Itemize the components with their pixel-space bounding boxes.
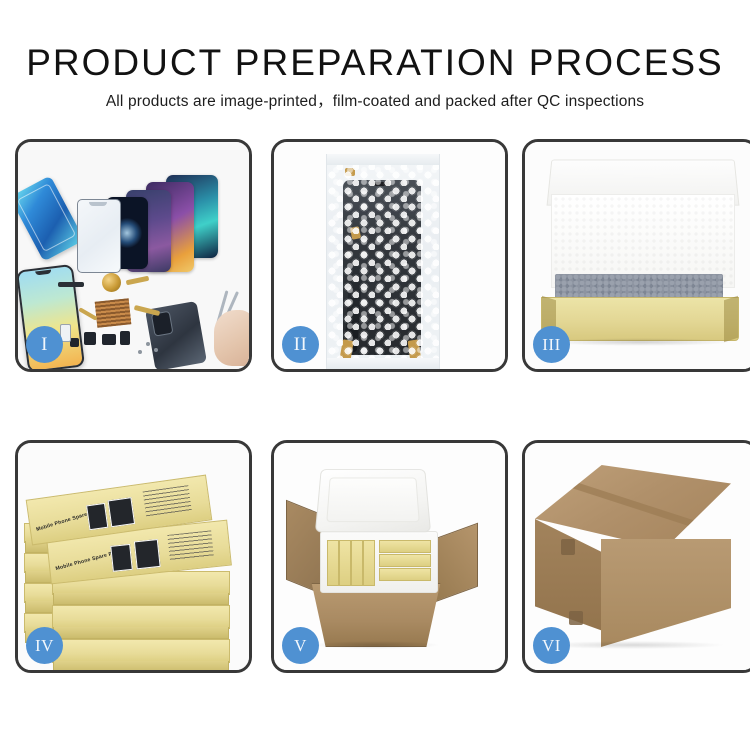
step-badge-6: VI (533, 627, 570, 664)
stacked-box-front-2 (52, 605, 230, 629)
packed-box-4 (363, 540, 375, 586)
carton-handle-hole-bottom (569, 611, 583, 625)
packed-box-5 (379, 540, 431, 553)
box-product-image-b (134, 539, 161, 569)
screw-1 (146, 342, 150, 346)
drop-shadow (310, 641, 440, 649)
packed-box-7 (379, 568, 431, 581)
bubble-highlight-texture (327, 154, 439, 369)
drop-shadow (547, 338, 733, 346)
product-preparation-process-infographic: PRODUCT PREPARATION PROCESS All products… (0, 0, 750, 750)
bubble-wrap-bag (326, 154, 440, 369)
packed-box-3 (351, 540, 363, 586)
earpiece-mesh-part (58, 282, 84, 287)
box-spec-lines-1 (143, 485, 192, 517)
box-side (53, 593, 229, 605)
step-badge-3: III (533, 326, 570, 363)
process-step-3-panel: III (522, 139, 750, 372)
process-step-2-panel: II (271, 139, 508, 372)
process-step-1-panel: I (15, 139, 252, 372)
small-component-2 (102, 334, 116, 345)
screw-3 (138, 350, 142, 354)
carton-right-face (601, 539, 731, 647)
small-component-4 (70, 338, 79, 347)
page-subtitle: All products are image-printed，film-coat… (0, 84, 750, 111)
box-side (53, 627, 229, 639)
process-step-4-panel: Mobile Phone Spare Parts Mobile Phone Sp… (15, 440, 252, 673)
step-badge-4: IV (26, 627, 63, 664)
tray-right-edge (724, 296, 738, 343)
box-product-image-c (86, 503, 108, 530)
carton-handle-hole-top (561, 539, 575, 555)
bag-seal-top (327, 154, 439, 165)
drop-shadow (543, 641, 723, 649)
small-component-1 (84, 332, 96, 345)
technician-hand (214, 310, 252, 366)
tempered-glass-panel (77, 199, 121, 273)
small-component-3 (120, 331, 130, 345)
box-spec-lines-2 (167, 530, 213, 560)
process-step-5-panel: V (271, 440, 508, 673)
flex-cable-1 (126, 276, 150, 286)
packed-box-6 (379, 554, 431, 567)
vibration-motor-part (102, 273, 121, 292)
packed-box-1 (327, 540, 339, 586)
logic-board-chip (95, 298, 132, 327)
yellow-box-tray (541, 297, 739, 341)
box-product-image-a (110, 544, 133, 572)
screen-protector-film-icon (15, 175, 84, 261)
box-product-image-d (108, 497, 136, 527)
step-badge-2: II (282, 326, 319, 363)
bag-seal-bottom (327, 358, 439, 369)
process-step-grid: I II (15, 139, 736, 673)
step-badge-1: I (26, 326, 63, 363)
process-step-6-panel: VI (522, 440, 750, 673)
page-title: PRODUCT PREPARATION PROCESS (0, 0, 750, 84)
screw-2 (154, 348, 158, 352)
box-side (53, 661, 229, 673)
step-badge-5: V (282, 627, 319, 664)
styrofoam-lid (315, 469, 431, 532)
packed-box-2 (339, 540, 351, 586)
header: PRODUCT PREPARATION PROCESS All products… (0, 0, 750, 111)
carton-flap-right (432, 523, 478, 604)
styrofoam-base (320, 531, 438, 593)
stacked-box-front-3 (52, 639, 230, 663)
